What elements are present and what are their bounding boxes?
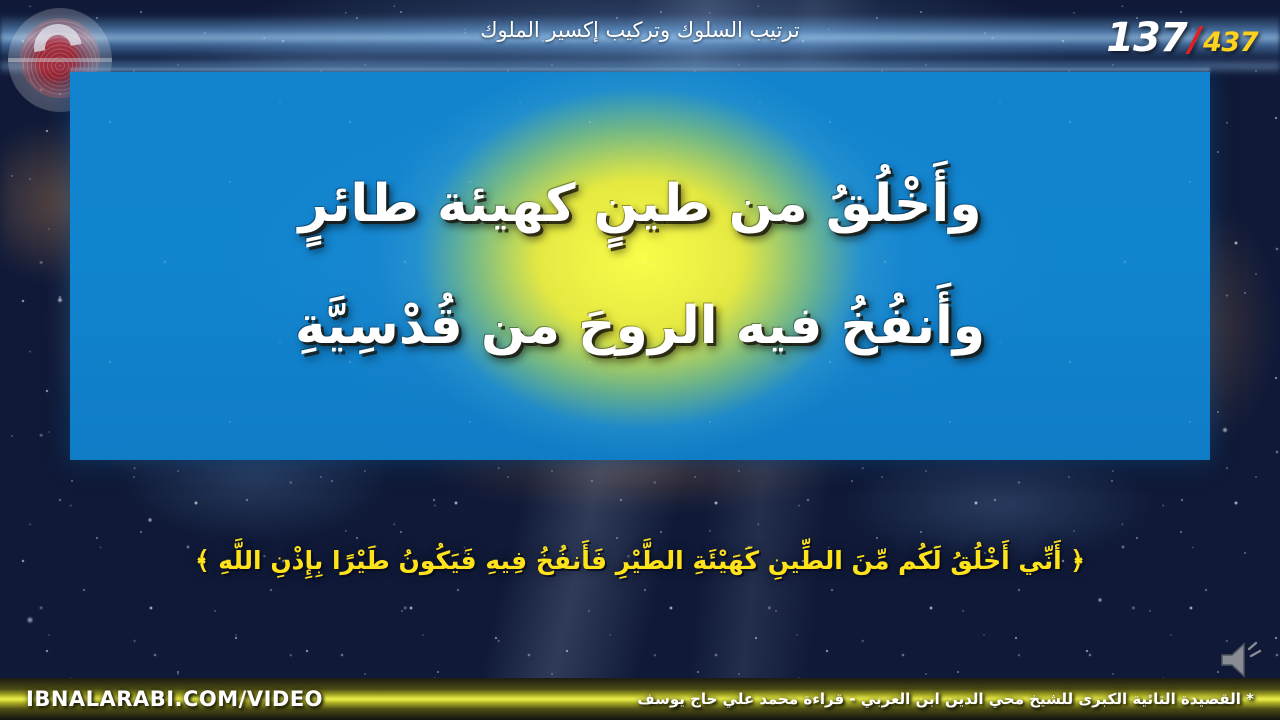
slide-counter: 137 / 437 [1106,18,1258,58]
video-frame: ترتيب السلوك وتركيب إكسير الملوك 137 / 4… [0,0,1280,720]
verse-line-2: وأَنفُخُ فيه الروحَ من قُدْسِيَّةِ [295,297,985,357]
logo-horizontal-bar [8,58,112,62]
page-title: ترتيب السلوك وتركيب إكسير الملوك [0,18,1280,42]
speaker-volume-icon [1218,640,1264,680]
counter-total: 437 [1203,29,1258,56]
footer-credit: * القصيدة التائية الكبرى للشيخ محي الدين… [637,690,1254,708]
footer-bar: IBNALARABI.COM/VIDEO * القصيدة التائية ا… [0,678,1280,720]
counter-separator: / [1189,23,1201,57]
counter-current: 137 [1106,18,1187,58]
quran-verse-text: ﴿ أَنِّي أَخْلُقُ لَكُم مِّنَ الطِّينِ ك… [195,546,1085,575]
website-url[interactable]: IBNALARABI.COM/VIDEO [26,687,323,711]
quran-verse-strip: ﴿ أَنِّي أَخْلُقُ لَكُم مِّنَ الطِّينِ ك… [0,460,1280,660]
verse-panel: وأَخْلُقُ من طينٍ كهيئة طائرٍ وأَنفُخُ ف… [70,72,1210,460]
verse-lines-container: وأَخْلُقُ من طينٍ كهيئة طائرٍ وأَنفُخُ ف… [70,72,1210,460]
verse-line-1: وأَخْلُقُ من طينٍ كهيئة طائرٍ [298,175,981,235]
